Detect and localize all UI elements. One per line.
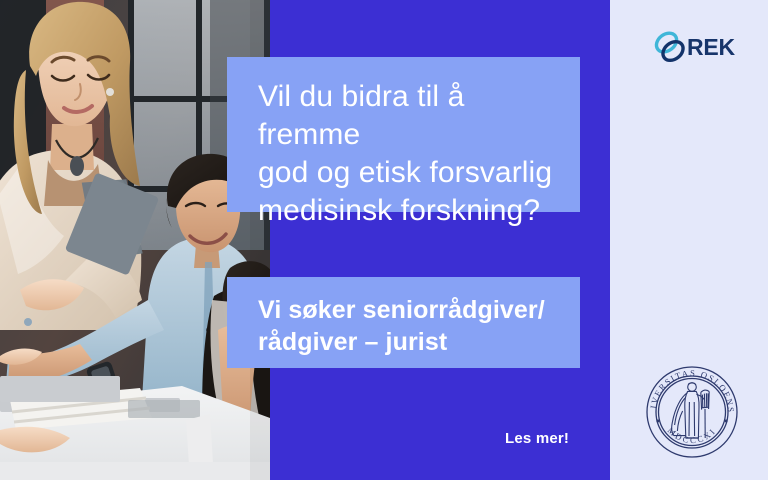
rek-wordmark: REK <box>687 36 735 59</box>
university-of-oslo-seal-icon: UNIVERSITAS OSLOENSIS MDCCCXI <box>644 364 740 460</box>
rek-logo[interactable]: REK <box>651 28 735 68</box>
read-more-link[interactable]: Les mer! <box>505 430 569 447</box>
rek-interlocking-rings-icon <box>651 28 691 68</box>
headline-box: Vil du bidra til å fremme god og etisk f… <box>227 57 580 212</box>
job-title-box: Vi søker seniorrådgiver/ rådgiver – juri… <box>227 277 580 368</box>
recruitment-banner: Vil du bidra til å fremme god og etisk f… <box>0 0 768 480</box>
seal-top-text: UNIVERSITAS OSLOENSIS <box>644 364 736 414</box>
uio-seal: UNIVERSITAS OSLOENSIS MDCCCXI <box>644 364 740 460</box>
job-title-text: Vi søker seniorrådgiver/ rådgiver – juri… <box>258 294 560 358</box>
headline-text: Vil du bidra til å fremme god og etisk f… <box>258 78 554 230</box>
